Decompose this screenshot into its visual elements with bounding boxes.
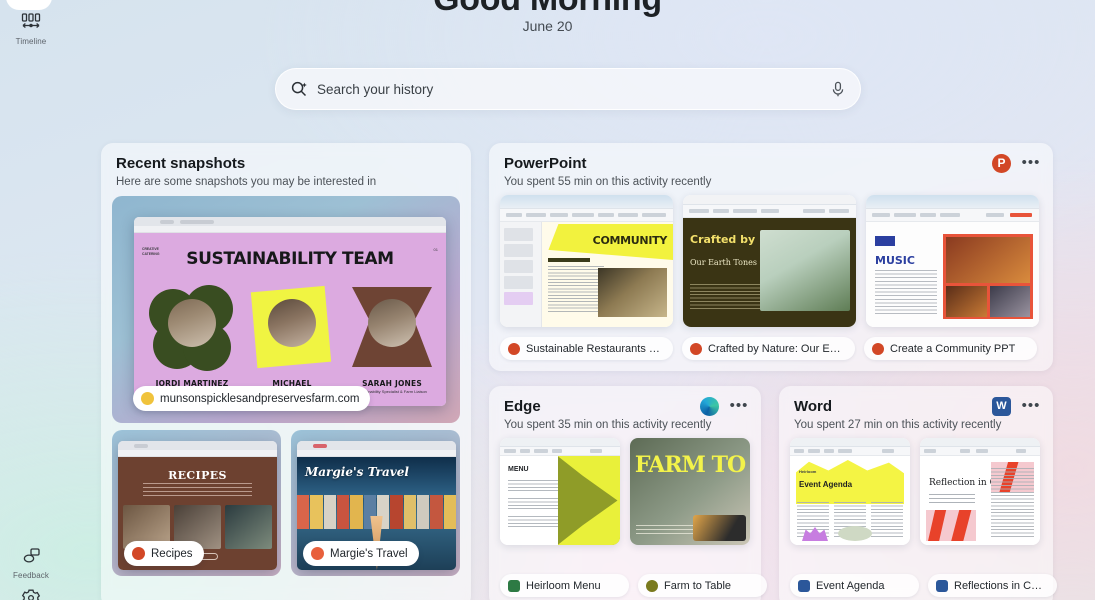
tag-row: Event Agenda Reflections in Color	[790, 574, 1057, 597]
tag-label: Create a Community PPT	[890, 343, 1015, 355]
snapshot-card-recipes[interactable]: RECIPES Recipes	[112, 430, 281, 576]
snapshot-url-pill[interactable]: munsonspicklesandpreservesfarm.com	[133, 386, 370, 411]
slide-person: JORDI MARTINEZ Hospitality & Culinary Ma…	[146, 283, 238, 373]
gear-icon	[0, 588, 62, 600]
powerpoint-icon	[508, 343, 520, 355]
site-favicon	[141, 392, 154, 405]
tag-crafted-by-nature[interactable]: Crafted by Nature: Our Earth T...	[682, 337, 855, 360]
slide-sustainability-team: CREATIVECATERING 01 SUSTAINABILITY TEAM …	[134, 233, 446, 406]
thumbnail-heading: COMMUNITY	[593, 234, 667, 247]
thumbnail-row: Heirloom Event Agenda Reflection in Colo…	[790, 438, 1040, 545]
snapshot-pill[interactable]: Margie's Travel	[303, 541, 419, 566]
powerpoint-icon	[690, 343, 702, 355]
thumbnail-row: MENU FARM TO	[500, 438, 750, 545]
thumbnail-heading: Event Agenda	[799, 480, 852, 489]
word-icon	[936, 580, 948, 592]
designer-icon	[646, 580, 658, 592]
panel-subtitle: You spent 35 min on this activity recent…	[504, 419, 711, 431]
edge-icon	[700, 397, 719, 416]
feedback-icon	[0, 546, 62, 568]
rail-item-settings[interactable]	[0, 588, 62, 600]
thumbnail-heading: MENU	[508, 466, 529, 473]
tag-label: Reflections in Color	[954, 580, 1045, 592]
tag-label: Crafted by Nature: Our Earth T...	[708, 343, 843, 355]
tag-farm-to-table[interactable]: Farm to Table	[638, 574, 767, 597]
panel-powerpoint: PowerPoint You spent 55 min on this acti…	[489, 143, 1053, 371]
greeting-title: Good Morning	[0, 0, 1095, 19]
tag-reflections-in-color[interactable]: Reflections in Color	[928, 574, 1057, 597]
thumbnail-farm-to-table-page[interactable]: FARM TO	[630, 438, 750, 545]
more-options-icon[interactable]: •••	[1021, 398, 1041, 416]
rail-label-timeline: Timeline	[0, 37, 62, 46]
tag-label: Event Agenda	[816, 580, 885, 592]
rail-label-feedback: Feedback	[0, 571, 62, 580]
tag-sustainable-restaurants-review[interactable]: Sustainable Restaurants Review	[500, 337, 673, 360]
rail-item-feedback[interactable]: Feedback	[0, 546, 62, 580]
slide-person: SARAH JONES Sustainability Specialist & …	[346, 283, 438, 373]
powerpoint-icon: P	[992, 154, 1011, 173]
search-icon	[290, 80, 308, 98]
more-options-icon[interactable]: •••	[729, 398, 749, 416]
panel-subtitle: Here are some snapshots you may be inter…	[116, 176, 376, 188]
panel-title: Recent snapshots	[116, 155, 245, 172]
browser-content: CREATIVECATERING 01 SUSTAINABILITY TEAM …	[134, 233, 446, 406]
snapshot-pill-label: Recipes	[151, 548, 193, 560]
greeting-date: June 20	[0, 18, 1095, 34]
snapshot-pill-label: Margie's Travel	[330, 548, 408, 560]
rail-top-pill	[6, 0, 52, 10]
publisher-icon	[508, 580, 520, 592]
snapshot-card-margies-travel[interactable]: Margie's Travel Margie's Travel	[291, 430, 460, 576]
browser-addressbar	[134, 226, 446, 233]
panel-word: Word You spent 27 min on this activity r…	[779, 386, 1053, 600]
thumbnail-kicker: Heirloom	[799, 469, 816, 474]
tag-heirloom-menu[interactable]: Heirloom Menu	[500, 574, 629, 597]
margies-travel-icon	[311, 547, 324, 560]
panel-title: Edge	[504, 398, 541, 415]
thumbnail-event-agenda-doc[interactable]: Heirloom Event Agenda	[790, 438, 910, 545]
tag-label: Sustainable Restaurants Review	[526, 343, 661, 355]
left-rail: Timeline Feedback	[0, 0, 62, 600]
panel-recent-snapshots: Recent snapshots Here are some snapshots…	[101, 143, 471, 600]
thumbnail-heading: FARM TO	[630, 452, 750, 478]
thumbnail-heading: MUSIC	[875, 254, 915, 267]
snapshot-url-label: munsonspicklesandpreservesfarm.com	[160, 393, 359, 405]
panel-subtitle: You spent 27 min on this activity recent…	[794, 419, 1001, 431]
more-options-icon[interactable]: •••	[1021, 155, 1041, 173]
panel-edge: Edge You spent 35 min on this activity r…	[489, 386, 761, 600]
slide-title: RECIPES	[118, 469, 277, 482]
powerpoint-icon	[872, 343, 884, 355]
thumbnail-community-deck[interactable]: COMMUNITY	[500, 195, 673, 327]
tag-row: Heirloom Menu Farm to Table	[500, 574, 767, 597]
panel-title: Word	[794, 398, 832, 415]
slide-title: SUSTAINABILITY TEAM	[134, 249, 446, 269]
slide-title: Margie's Travel	[305, 465, 409, 479]
tag-label: Farm to Table	[664, 580, 731, 592]
panel-title: PowerPoint	[504, 155, 587, 172]
word-icon: W	[992, 397, 1011, 416]
snapshot-card-hero[interactable]: CREATIVECATERING 01 SUSTAINABILITY TEAM …	[112, 196, 460, 423]
tag-create-a-community-ppt[interactable]: Create a Community PPT	[864, 337, 1037, 360]
tag-label: Heirloom Menu	[526, 580, 601, 592]
browser-tabstrip	[118, 441, 277, 450]
tag-row: Sustainable Restaurants Review Crafted b…	[500, 337, 1037, 360]
thumbnail-reflection-in-color-doc[interactable]: Reflection in Color	[920, 438, 1040, 545]
browser-addressbar	[297, 450, 456, 457]
word-icon	[798, 580, 810, 592]
thumbnail-crafted-by-nature-deck[interactable]: Crafted by Nature: Our Earth Tones Color…	[683, 195, 856, 327]
browser-window-mock: CREATIVECATERING 01 SUSTAINABILITY TEAM …	[134, 217, 446, 406]
thumbnail-row: COMMUNITY Crafted by Nature: Our Earth T…	[500, 195, 1039, 327]
rail-item-timeline[interactable]: Timeline	[0, 12, 62, 46]
browser-addressbar	[118, 450, 277, 457]
panel-subtitle: You spent 55 min on this activity recent…	[504, 176, 711, 188]
timeline-icon	[0, 12, 62, 34]
search-input[interactable]	[317, 82, 830, 97]
snapshot-pill[interactable]: Recipes	[124, 541, 204, 566]
browser-tabstrip	[297, 441, 456, 450]
slide-person: MICHAEL THOMPSON Event Manager & Coordin…	[246, 283, 338, 373]
tag-event-agenda[interactable]: Event Agenda	[790, 574, 919, 597]
powerpoint-icon	[132, 547, 145, 560]
thumbnail-heirloom-menu-page[interactable]: MENU	[500, 438, 620, 545]
browser-tabstrip	[134, 217, 446, 226]
microphone-icon[interactable]	[830, 80, 846, 98]
search-bar[interactable]	[275, 68, 861, 110]
thumbnail-music-deck[interactable]: MUSIC	[866, 195, 1039, 327]
